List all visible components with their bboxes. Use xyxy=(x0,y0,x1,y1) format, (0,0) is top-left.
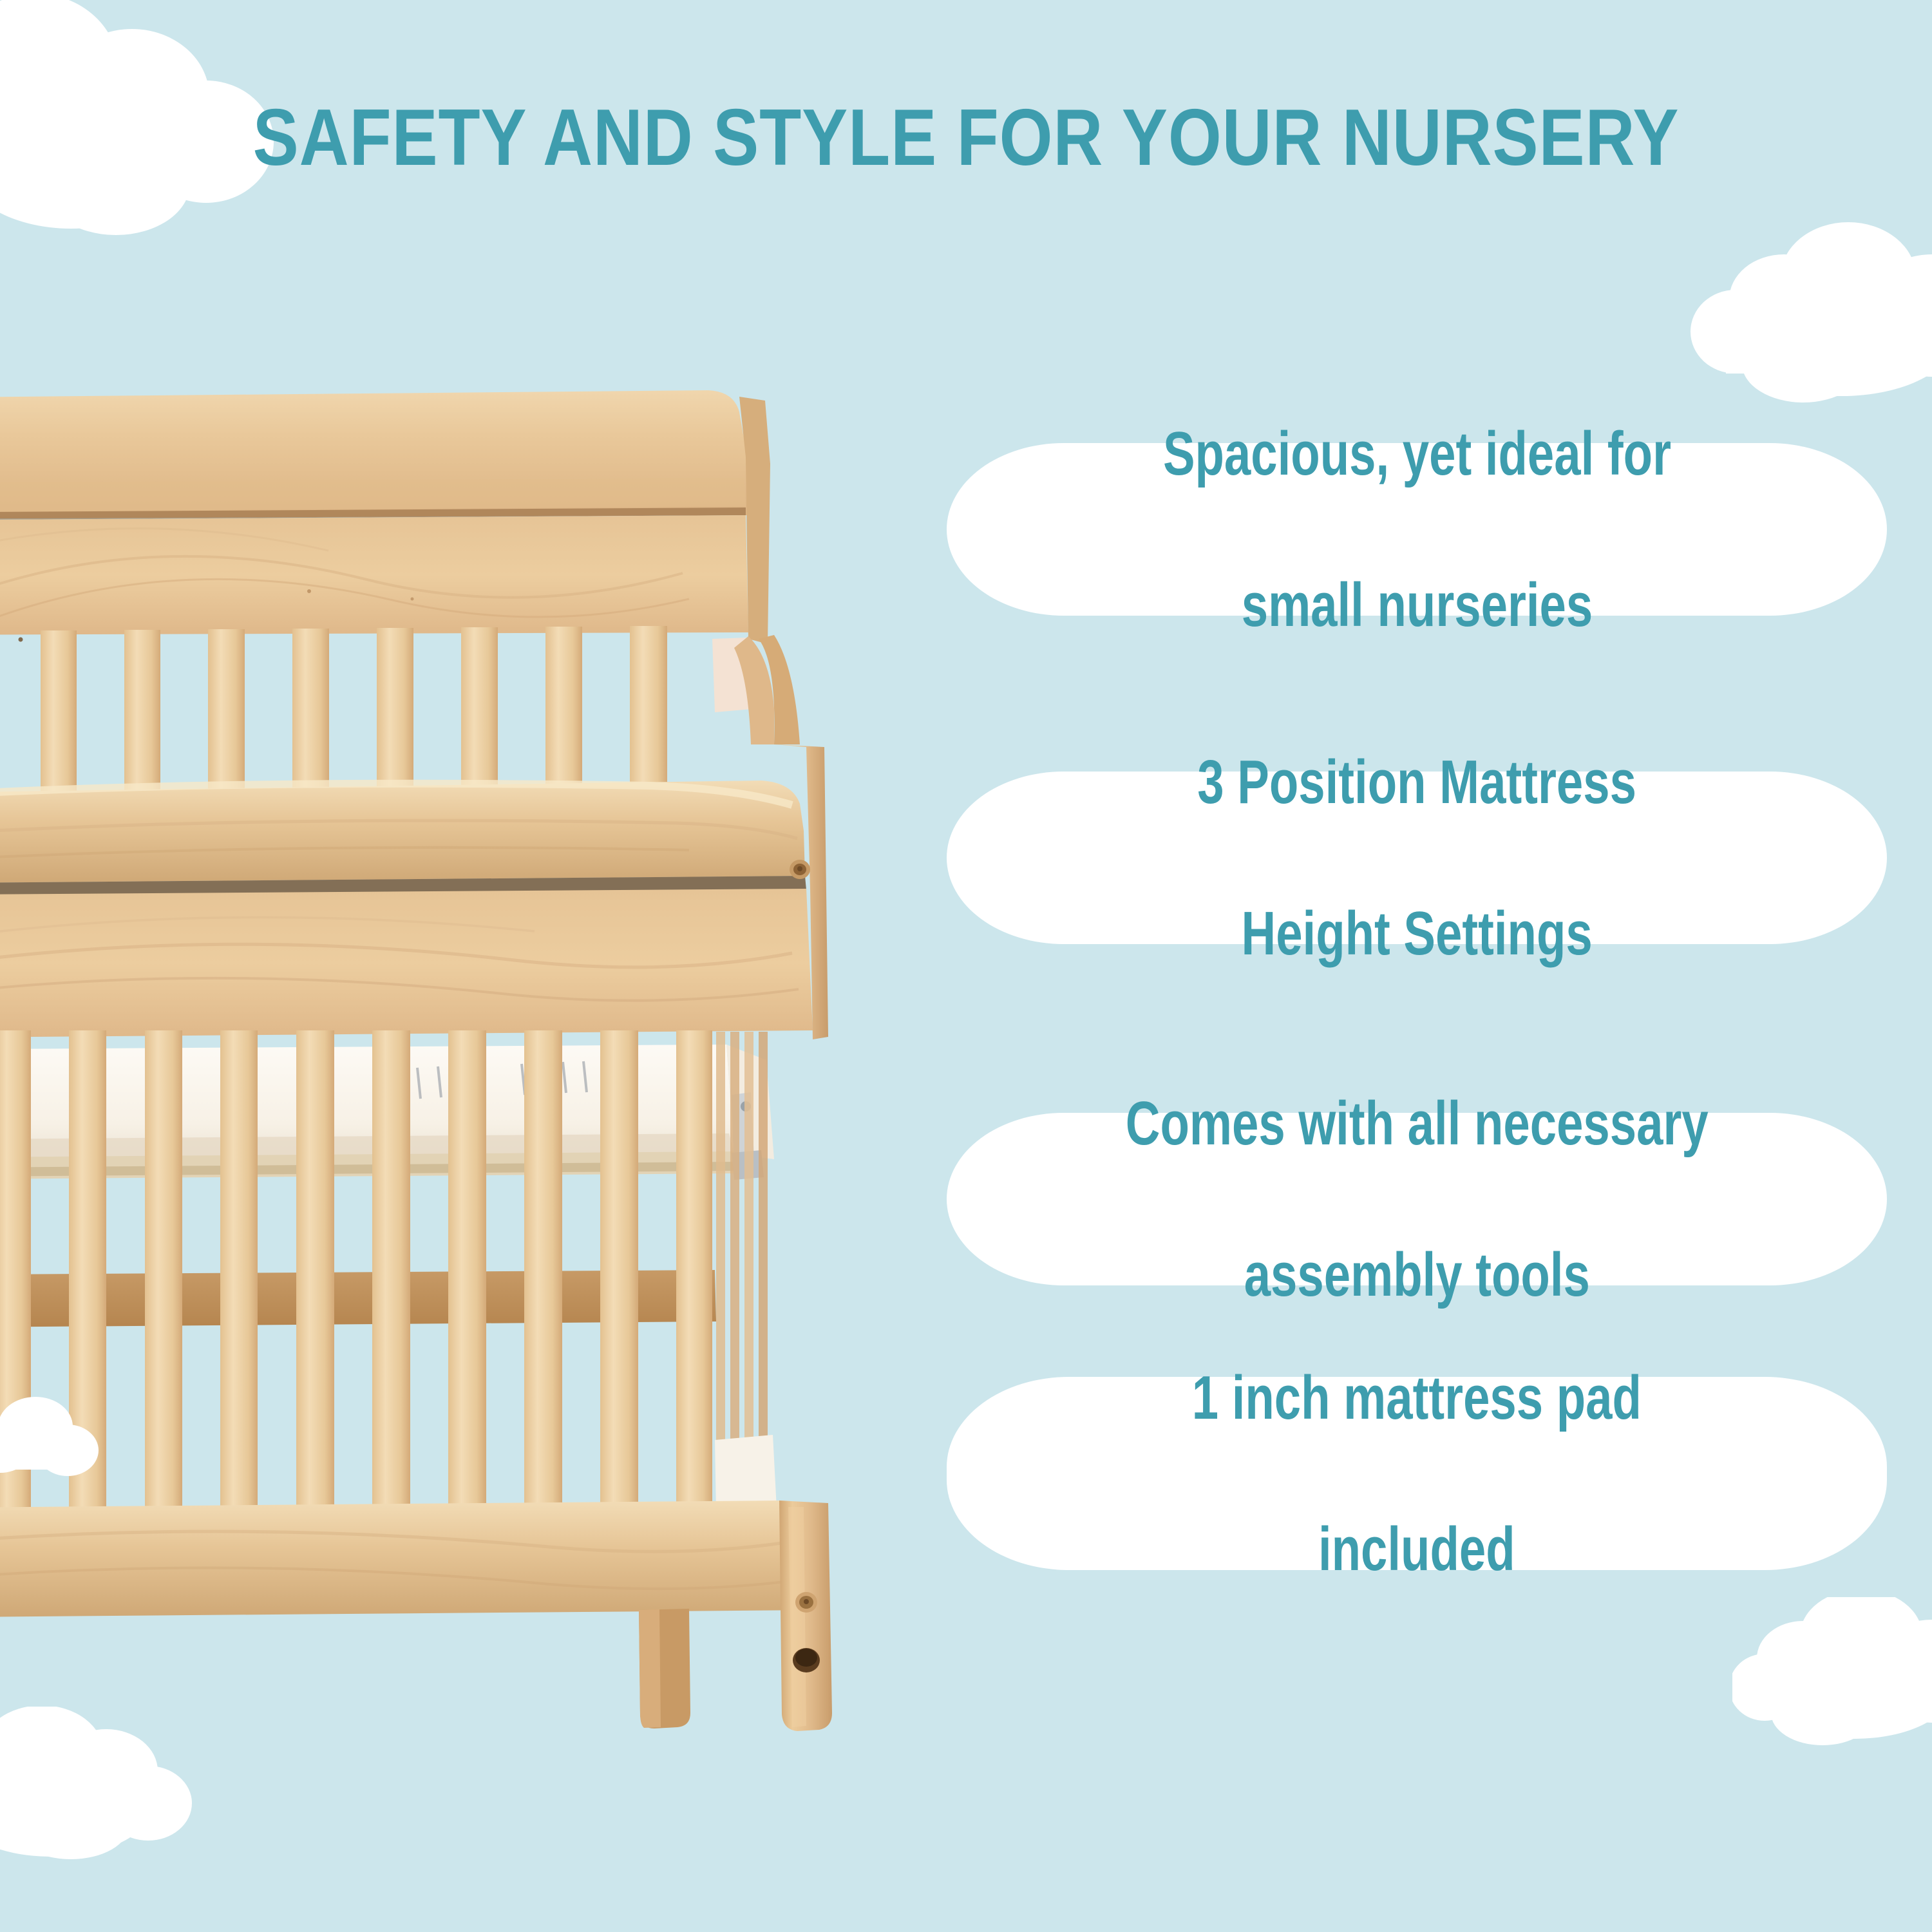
feature-pill: 1 inch mattress pad included xyxy=(947,1377,1887,1570)
feature-line-1: 1 inch mattress pad xyxy=(1192,1360,1642,1435)
feature-line-2: small nurseries xyxy=(1162,567,1671,643)
feature-pill: Comes with all necessary assembly tools xyxy=(947,1113,1887,1285)
feature-pill: Spacious, yet ideal for small nurseries xyxy=(947,443,1887,616)
feature-line-2: Height Settings xyxy=(1197,896,1636,971)
feature-line-1: 3 Position Mattress xyxy=(1197,744,1636,820)
feature-pill: 3 Position Mattress Height Settings xyxy=(947,772,1887,944)
cloud-top-right-icon xyxy=(1687,219,1932,412)
feature-line-2: included xyxy=(1192,1511,1642,1587)
feature-line-1: Spacious, yet ideal for xyxy=(1162,416,1671,491)
crib-product-image xyxy=(0,386,921,1739)
page-title: SAFETY AND STYLE FOR YOUR NURSERY xyxy=(135,98,1797,178)
cloud-bottom-right-icon xyxy=(1732,1597,1932,1765)
feature-line-1: Comes with all necessary xyxy=(1126,1086,1709,1161)
infographic-canvas: SAFETY AND STYLE FOR YOUR NURSERY Spacio… xyxy=(0,0,1932,1932)
crib-upper-slats xyxy=(0,626,667,797)
feature-line-2: assembly tools xyxy=(1126,1237,1709,1312)
